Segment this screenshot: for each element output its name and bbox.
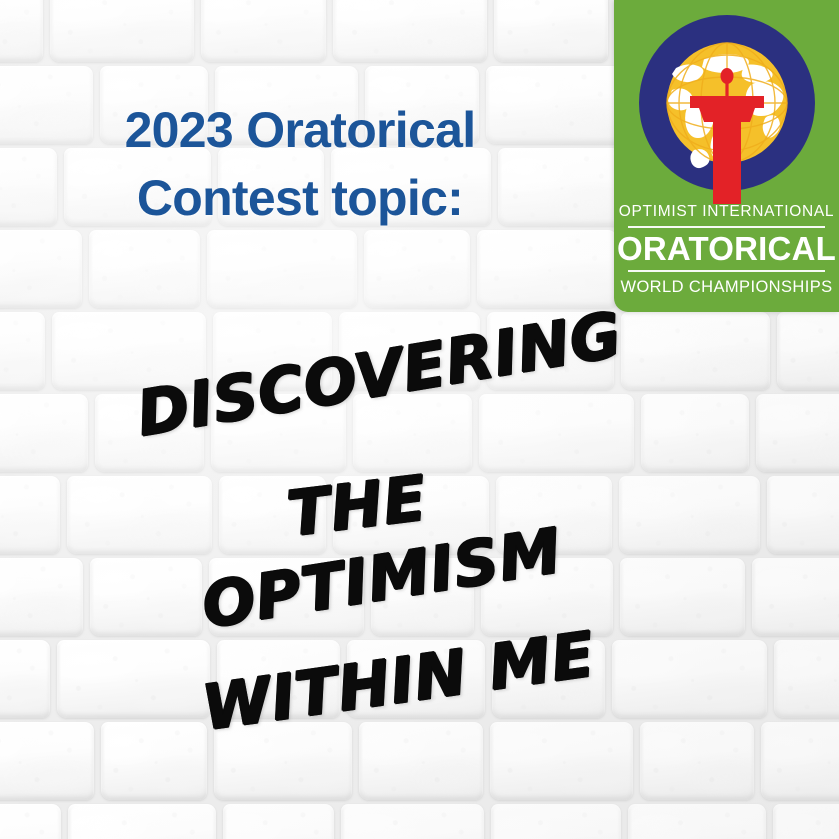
page-title: 2023 Oratorical Contest topic:	[0, 96, 600, 232]
brick-course	[0, 558, 839, 636]
poster-canvas: 2023 Oratorical Contest topic: DISCOVERI…	[0, 0, 839, 839]
brick-course	[0, 476, 839, 554]
logo-organization: OPTIMIST INTERNATIONAL	[614, 203, 839, 224]
logo-scope: WORLD CHAMPIONSHIPS	[614, 274, 839, 297]
globe-podium-microphone-emblem	[632, 10, 822, 206]
brick-course	[0, 804, 839, 839]
brick-course	[0, 640, 839, 718]
title-line-2: Contest topic:	[0, 164, 600, 232]
logo-wordmark: OPTIMIST INTERNATIONAL ORATORICAL WORLD …	[614, 203, 839, 297]
logo-program: ORATORICAL	[614, 230, 839, 268]
logo-divider-bottom	[628, 270, 825, 272]
brick-course	[0, 722, 839, 800]
logo-divider-top	[628, 226, 825, 228]
title-line-1: 2023 Oratorical	[0, 96, 600, 164]
brick-course	[0, 394, 839, 472]
brick-course	[0, 312, 839, 390]
optimist-oratorical-logo: OPTIMIST INTERNATIONAL ORATORICAL WORLD …	[614, 0, 839, 312]
